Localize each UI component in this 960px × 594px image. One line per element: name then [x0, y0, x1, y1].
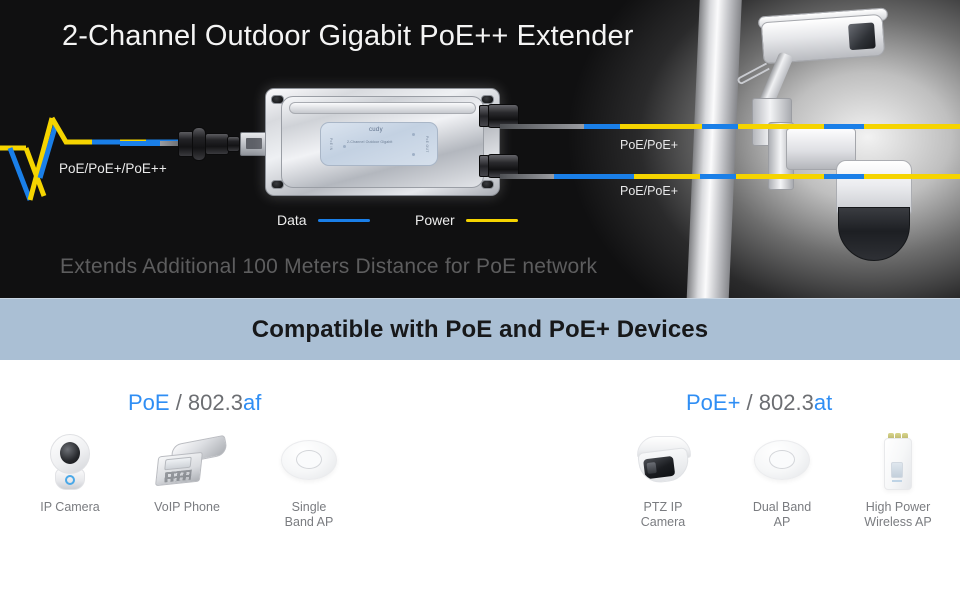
group-heading-poeplus-suffix: at — [814, 390, 832, 415]
hero-subtitle: Extends Additional 100 Meters Distance f… — [60, 255, 597, 279]
output-cable-label-1: PoE/PoE+ — [620, 138, 678, 152]
group-heading-poeplus: PoE+ / 802.3at — [686, 390, 832, 416]
compatibility-banner: Compatible with PoE and PoE+ Devices — [0, 298, 960, 360]
led-indicator-link1 — [412, 133, 415, 136]
led-indicator-power — [343, 145, 346, 148]
device-caption-high-power-wireless-ap: High PowerWireless AP — [843, 500, 953, 530]
led-indicator-link2 — [412, 153, 415, 156]
device-caption-single-band-ap: SingleBand AP — [254, 500, 364, 530]
device-port-in-text: PoE IN — [329, 138, 333, 151]
device-enclosure-rim — [289, 102, 476, 114]
group-heading-poe: PoE / 802.3af — [128, 390, 261, 416]
device-port-out-text: PoE OUT — [425, 136, 429, 153]
product-banner-page: 2-Channel Outdoor Gigabit PoE++ Extender — [0, 0, 960, 594]
device-card-ip-camera: IP Camera — [15, 428, 125, 515]
legend-label-power: Power — [415, 212, 455, 228]
voip-phone-icon — [141, 428, 233, 494]
mount-screw-bottom-right — [481, 180, 494, 189]
ip-camera-icon — [24, 428, 116, 494]
device-caption-dual-band-ap: Dual BandAP — [727, 500, 837, 530]
group-heading-poe-spec: / 802.3 — [170, 390, 243, 415]
ptz-ip-camera-icon — [617, 428, 709, 494]
output-cable-1 — [500, 124, 960, 129]
legend-item-power: Power — [415, 212, 518, 228]
device-caption-ptz-ip-camera: PTZ IPCamera — [608, 500, 718, 530]
legend-swatch-data — [318, 219, 370, 222]
device-card-voip-phone: VoIP Phone — [132, 428, 242, 515]
bullet-camera-lens — [848, 22, 876, 50]
device-model-text: 2-Channel Outdoor Gigabit — [347, 140, 431, 145]
device-label-panel: cudy 2-Channel Outdoor Gigabit PoE IN Po… — [320, 122, 438, 166]
banner-text: Compatible with PoE and PoE+ Devices — [252, 316, 708, 344]
device-brand-text: cudy — [369, 127, 383, 133]
dual-band-ap-icon — [736, 428, 828, 494]
device-card-high-power-wireless-ap: High PowerWireless AP — [843, 428, 953, 530]
output-cable-label-2: PoE/PoE+ — [620, 184, 678, 198]
zigzag-cable-graphic — [0, 96, 186, 206]
waterproof-connector — [178, 125, 240, 163]
device-caption-ip-camera: IP Camera — [15, 500, 125, 515]
high-power-wireless-ap-icon — [852, 428, 944, 494]
group-heading-poeplus-spec: / 802.3 — [740, 390, 813, 415]
group-heading-poe-standard: PoE — [128, 390, 170, 415]
input-cable-label: PoE/PoE+/PoE++ — [59, 161, 167, 176]
single-band-ap-icon — [263, 428, 355, 494]
device-card-single-band-ap: SingleBand AP — [254, 428, 364, 530]
hero-title: 2-Channel Outdoor Gigabit PoE++ Extender — [62, 20, 633, 53]
hero-section: 2-Channel Outdoor Gigabit PoE++ Extender — [0, 0, 960, 298]
poe-extender-device: cudy 2-Channel Outdoor Gigabit PoE IN Po… — [265, 88, 500, 196]
group-heading-poeplus-standard: PoE+ — [686, 390, 740, 415]
device-card-dual-band-ap: Dual BandAP — [727, 428, 837, 530]
compatible-devices-section: PoE / 802.3af PoE+ / 802.3at IP Camera — [0, 360, 960, 594]
cable-gland-nut-2 — [479, 155, 489, 177]
cable-gland-nut-1 — [479, 105, 489, 127]
legend-item-data: Data — [277, 212, 370, 228]
legend-swatch-power — [466, 219, 518, 222]
output-cable-2 — [500, 174, 960, 179]
legend-label-data: Data — [277, 212, 307, 228]
group-heading-poe-suffix: af — [243, 390, 261, 415]
device-card-ptz-ip-camera: PTZ IPCamera — [608, 428, 718, 530]
device-caption-voip-phone: VoIP Phone — [132, 500, 242, 515]
